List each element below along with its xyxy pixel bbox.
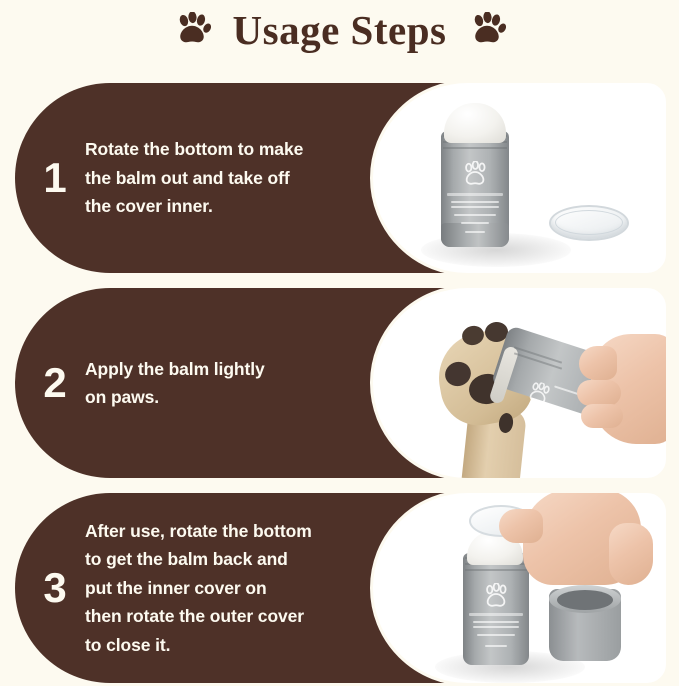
- balm-stick-base: [441, 223, 509, 247]
- step-number: 1: [27, 83, 83, 273]
- step-line: Apply the balm lightly: [85, 355, 375, 383]
- applying-balm-to-dog-paw-photo: [370, 285, 669, 481]
- step-line: then rotate the outer cover: [85, 602, 375, 630]
- inner-cover-rim: [555, 210, 623, 235]
- step-number: 3: [27, 493, 83, 683]
- step-panel-3: 3 After use, rotate the bottom to get th…: [15, 493, 665, 683]
- step-line: to close it.: [85, 631, 375, 659]
- thumb: [579, 346, 617, 380]
- replacing-inner-cover-photo: [370, 490, 669, 686]
- paw-print-icon: [468, 12, 506, 48]
- balm-product-top: [444, 103, 506, 143]
- step-panel-1: 1 Rotate the bottom to make the balm out…: [15, 83, 665, 273]
- step-line: the cover inner.: [85, 192, 375, 220]
- paw-print-icon: [173, 12, 211, 48]
- step-line: to get the balm back and: [85, 545, 375, 573]
- usage-steps-infographic: Usage Steps 1 Rotate the bottom to make …: [0, 0, 679, 686]
- thumb: [499, 509, 543, 543]
- step-description: Apply the balm lightly on paws.: [85, 288, 375, 478]
- page-header: Usage Steps: [0, 0, 679, 60]
- step-number: 2: [27, 288, 83, 478]
- balm-stick-with-open-inner-cover-photo: [370, 80, 669, 276]
- product-logo-paw-icon: [481, 583, 511, 616]
- step-line: After use, rotate the bottom: [85, 517, 375, 545]
- finger: [609, 523, 653, 585]
- step-line: Rotate the bottom to make: [85, 135, 375, 163]
- finger: [577, 380, 621, 406]
- step-description: Rotate the bottom to make the balm out a…: [85, 83, 375, 273]
- page-title: Usage Steps: [233, 10, 447, 51]
- step-line: the balm out and take off: [85, 164, 375, 192]
- finger: [581, 404, 623, 428]
- step-panel-2: 2 Apply the balm lightly on paws.: [15, 288, 665, 478]
- step-description: After use, rotate the bottom to get the …: [85, 493, 375, 683]
- product-logo-paw-icon: [460, 161, 490, 194]
- outer-cap-interior: [557, 590, 613, 610]
- step-line: on paws.: [85, 383, 375, 411]
- step-line: put the inner cover on: [85, 574, 375, 602]
